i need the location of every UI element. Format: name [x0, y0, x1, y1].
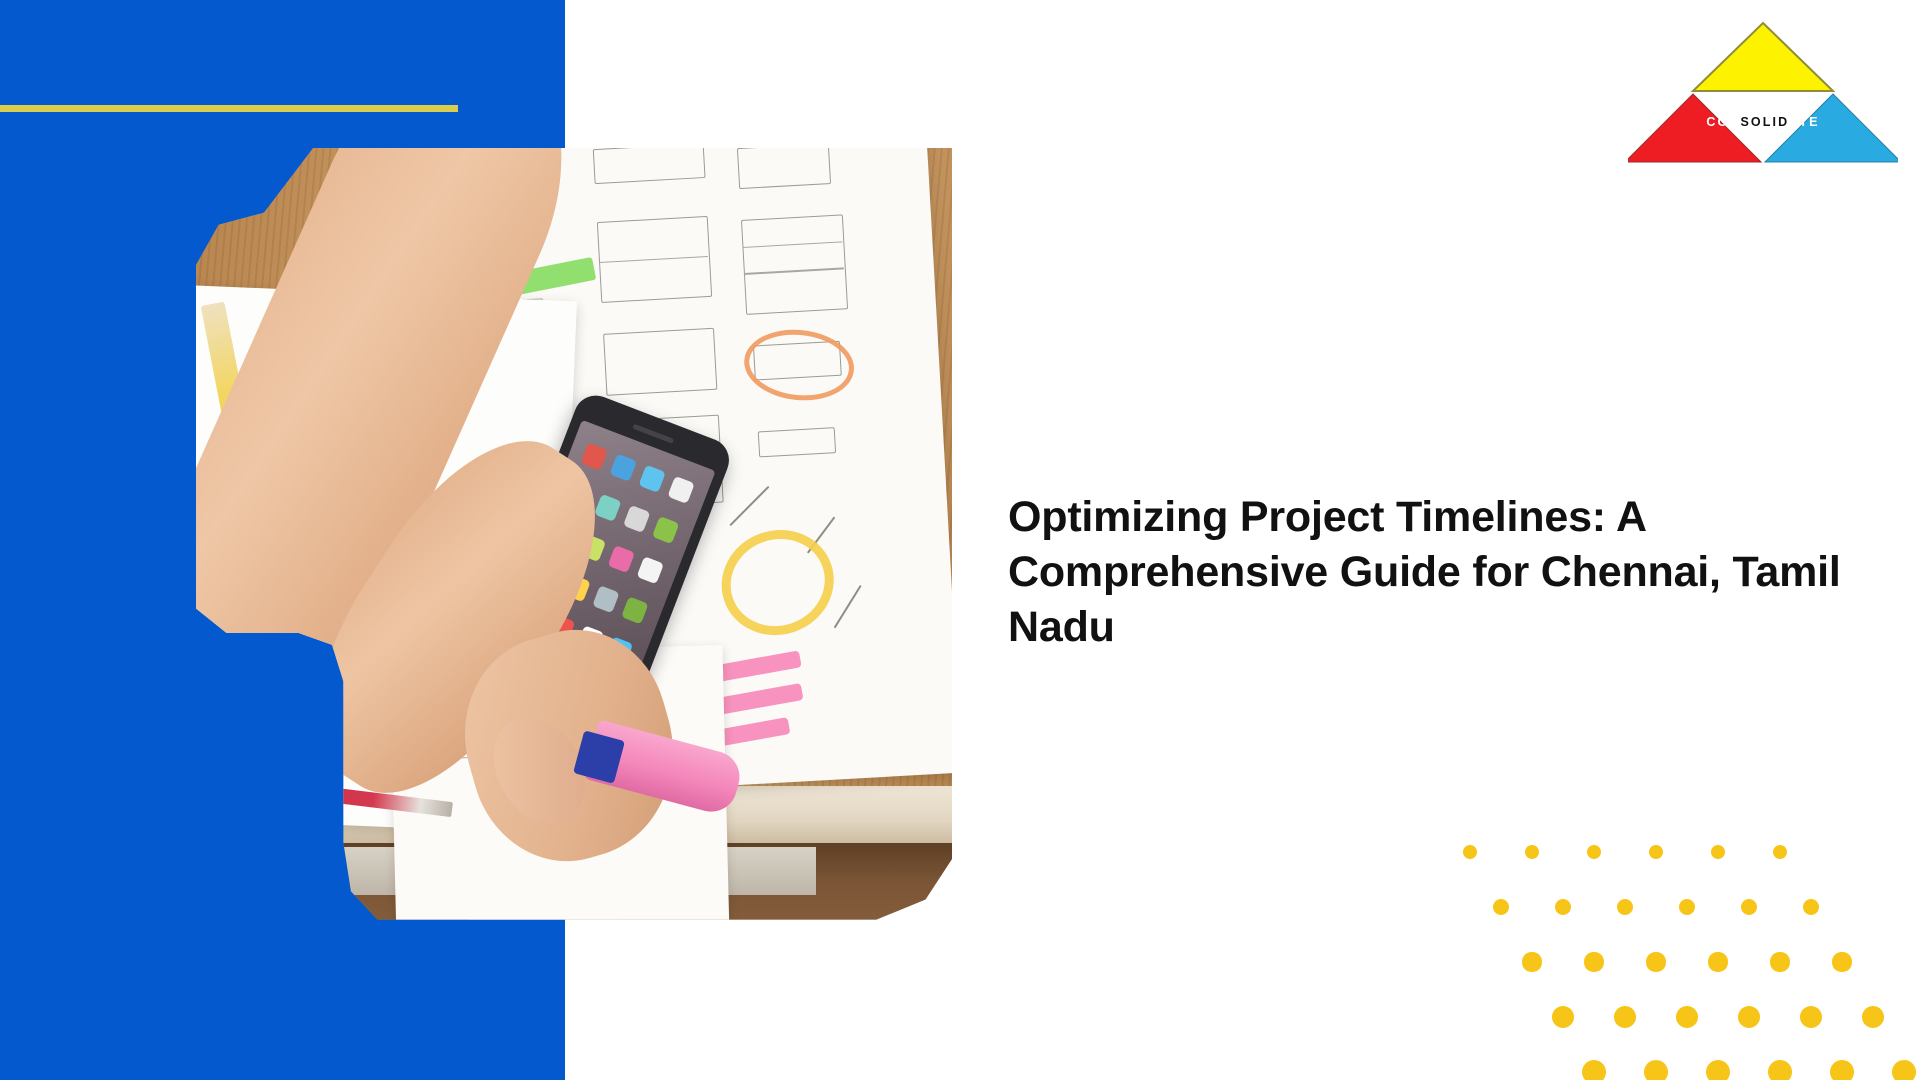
dot	[1770, 952, 1789, 971]
dot	[1773, 845, 1787, 859]
yellow-accent-rule	[0, 105, 458, 112]
dot	[1463, 845, 1477, 859]
dot	[1830, 1060, 1854, 1080]
dot	[1768, 1060, 1792, 1080]
dot	[1741, 899, 1758, 916]
dot	[1862, 1006, 1884, 1028]
dot	[1711, 845, 1725, 859]
yellow-dot-pattern	[1430, 830, 1920, 1080]
dot	[1708, 952, 1727, 971]
app-icon-16	[622, 596, 649, 624]
dot	[1800, 1006, 1822, 1028]
dot	[1493, 899, 1510, 916]
app-icon-7	[624, 505, 651, 533]
dot	[1552, 1006, 1574, 1028]
dot	[1582, 1060, 1606, 1080]
dot	[1892, 1060, 1916, 1080]
dot	[1522, 952, 1541, 971]
app-icon-6	[595, 494, 622, 522]
dot	[1555, 899, 1572, 916]
dot	[1738, 1006, 1760, 1028]
app-icon-15	[593, 585, 620, 613]
app-icon-11	[608, 545, 635, 573]
dot	[1706, 1060, 1730, 1080]
dot	[1676, 1006, 1698, 1028]
dot	[1644, 1060, 1668, 1080]
phone-speaker	[633, 423, 674, 443]
app-icon-4	[668, 476, 695, 504]
dot	[1617, 899, 1634, 916]
app-icon-3	[639, 465, 666, 493]
dot	[1525, 845, 1539, 859]
dot	[1614, 1006, 1636, 1028]
app-icon-12	[637, 556, 664, 584]
consolidate-logo[interactable]: CONSOLIDATE	[1628, 18, 1898, 168]
slide-canvas: Optimizing Project Timelines: A Comprehe…	[0, 0, 1920, 1080]
app-icon-2	[610, 454, 637, 482]
dot	[1646, 952, 1665, 971]
slide-title: Optimizing Project Timelines: A Comprehe…	[1008, 490, 1920, 655]
dot	[1587, 845, 1601, 859]
app-icon-8	[653, 516, 680, 544]
dot	[1679, 899, 1696, 916]
app-icon-1	[581, 443, 608, 471]
dot	[1584, 952, 1603, 971]
dot	[1803, 899, 1820, 916]
logo-triangles	[1628, 18, 1898, 168]
dot	[1832, 952, 1851, 971]
dot	[1649, 845, 1663, 859]
